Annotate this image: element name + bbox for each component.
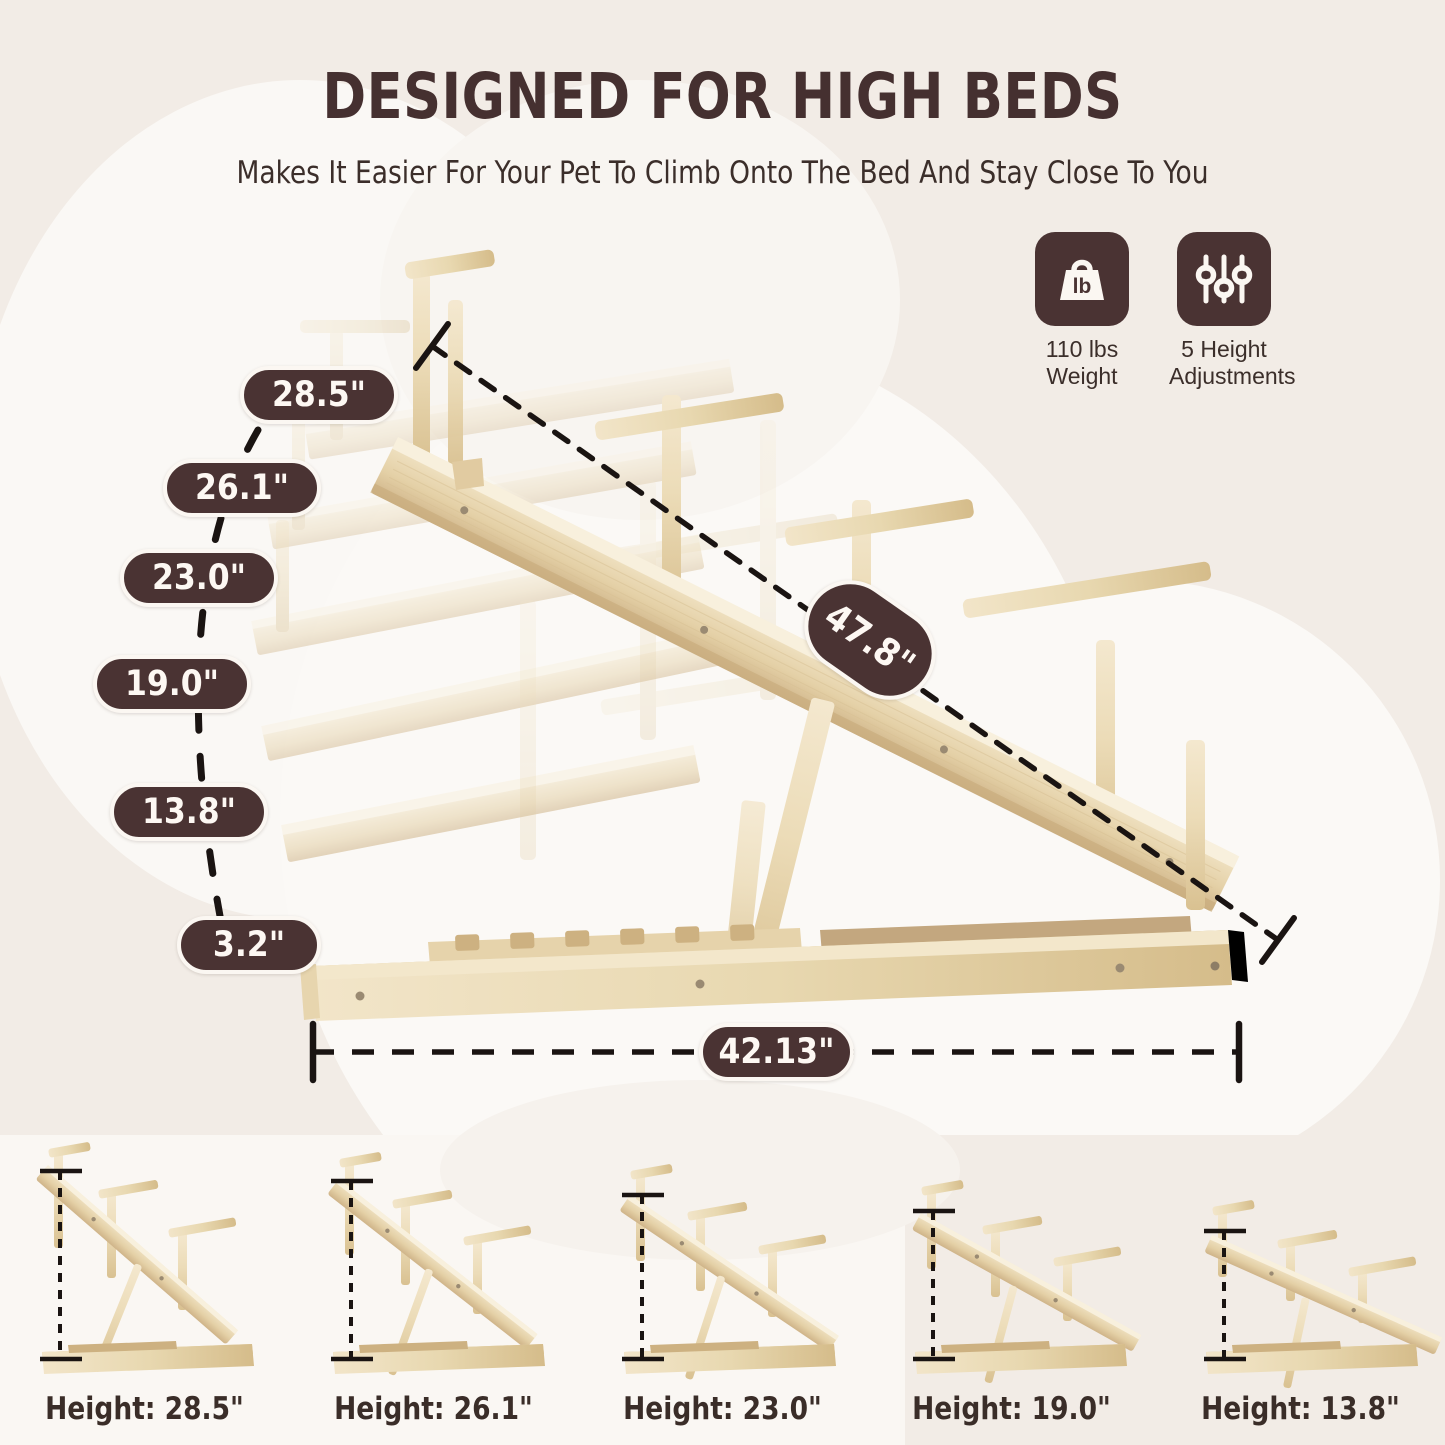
- base-length-badge-value: 42.13": [718, 1032, 834, 1072]
- page-title: DESIGNED FOR HIGH BEDS: [51, 60, 1395, 133]
- height-badge-3-value: 3.2": [213, 925, 285, 965]
- height-badge-28-value: 28.5": [272, 375, 366, 415]
- height-badge-26-value: 26.1": [195, 468, 289, 508]
- height-badge-3: 3.2": [177, 916, 321, 974]
- feature-height-line1: 5 Height: [1169, 336, 1279, 363]
- variant-ramp-26: [327, 1152, 545, 1376]
- variant-label-26: Height: 26.1": [296, 1391, 571, 1427]
- variant-thumbnail-26: Height: 26.1": [289, 1135, 578, 1445]
- header: DESIGNED FOR HIGH BEDS Makes It Easier F…: [0, 0, 1445, 191]
- ghost-ramp-position-5: [281, 745, 701, 862]
- height-badge-19: 19.0": [93, 655, 251, 713]
- variant-label-19: Height: 19.0": [874, 1391, 1149, 1427]
- height-badge-19-value: 19.0": [125, 664, 219, 704]
- base-platform: [300, 916, 1248, 1021]
- variant-ramp-28: [36, 1142, 254, 1374]
- feature-height-line2: Adjustments: [1169, 363, 1279, 390]
- variant-label-13: Height: 13.8": [1163, 1391, 1438, 1427]
- height-badge-23-value: 23.0": [152, 558, 246, 598]
- feature-badges: lb 110 lbs Weight: [1027, 232, 1279, 390]
- height-badge-13-value: 13.8": [142, 792, 236, 832]
- base-length-badge: 42.13": [699, 1023, 854, 1081]
- height-badge-13: 13.8": [110, 783, 268, 841]
- page-subtitle: Makes It Easier For Your Pet To Climb On…: [36, 155, 1409, 191]
- height-badge-26: 26.1": [163, 459, 321, 517]
- variant-thumbnail-13: Height: 13.8": [1156, 1135, 1445, 1445]
- height-adjust-sliders-icon: [1177, 232, 1271, 326]
- height-badge-23: 23.0": [120, 549, 278, 607]
- weight-unit-text: lb: [1073, 275, 1092, 298]
- feature-weight-line2: Weight: [1027, 363, 1137, 390]
- variant-label-23: Height: 23.0": [585, 1391, 860, 1427]
- feature-height-label: 5 Height Adjustments: [1169, 336, 1279, 390]
- variant-thumbnail-19: Height: 19.0": [867, 1135, 1156, 1445]
- variant-label-28: Height: 28.5": [7, 1391, 282, 1427]
- height-badge-28: 28.5": [240, 366, 398, 424]
- feature-weight-label: 110 lbs Weight: [1027, 336, 1137, 390]
- feature-weight-line1: 110 lbs: [1027, 336, 1137, 363]
- feature-weight-capacity: lb 110 lbs Weight: [1027, 232, 1137, 390]
- variant-thumbnail-23: Height: 23.0": [578, 1135, 867, 1445]
- variant-thumbnail-28: Height: 28.5": [0, 1135, 289, 1445]
- height-variants-row: Height: 28.5": [0, 1135, 1445, 1445]
- feature-height-adjustments: 5 Height Adjustments: [1169, 232, 1279, 390]
- weight-bag-icon: lb: [1035, 232, 1129, 326]
